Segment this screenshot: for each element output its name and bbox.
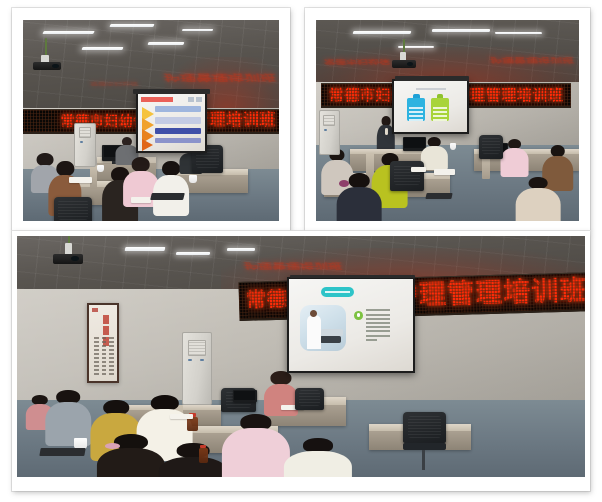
audience-person xyxy=(221,414,289,477)
air-conditioner xyxy=(74,123,96,167)
scroll-paper xyxy=(89,305,117,381)
chair-mesh xyxy=(408,416,440,438)
collage-panel-top-right: 常德市妇幼保 护理管理培训班 常德市妇幼保 护理管理培训班 xyxy=(305,8,590,232)
projector-cable xyxy=(45,38,47,57)
photo-collage: 护理管理培训班 常德市妇幼保 常德市妇幼保 护理管理培训班 xyxy=(0,0,602,502)
ceiling-lamp xyxy=(227,248,256,251)
audience-person xyxy=(45,390,90,443)
ceiling-lamp xyxy=(109,24,154,27)
office-chair xyxy=(479,135,503,159)
ceiling-lamp xyxy=(148,42,185,45)
ac-control-panel xyxy=(324,129,327,131)
scroll-small-characters xyxy=(94,337,114,375)
audience-person xyxy=(516,177,561,221)
slide-title-bar xyxy=(141,97,173,102)
chair-mesh xyxy=(299,390,321,405)
classroom-photo-wide-rear: 护理管理培训班 常德市妇幼保 常德市妇幼保 护理管理培训班 xyxy=(23,20,279,221)
person-torso xyxy=(500,148,529,176)
person-torso xyxy=(159,457,227,477)
hair-bow xyxy=(339,180,349,187)
slide-bar xyxy=(155,106,201,112)
ceiling-lamp xyxy=(181,29,212,31)
audience-person xyxy=(159,443,227,477)
slide-bar xyxy=(155,138,201,143)
audience-person xyxy=(421,137,447,169)
air-conditioner xyxy=(319,110,340,154)
notebook-paper xyxy=(434,169,455,175)
chair-mesh xyxy=(58,200,87,220)
hair-bow xyxy=(105,443,120,449)
chair-stem xyxy=(422,450,425,469)
slide-badge-text xyxy=(325,291,350,293)
person-torso xyxy=(264,384,298,417)
notebook-paper xyxy=(69,177,92,183)
person-torso xyxy=(337,187,382,221)
slide-two-box-comparison xyxy=(394,81,466,131)
ceiling-lamp xyxy=(432,29,490,32)
projector-lens-icon xyxy=(71,256,79,261)
classroom-photo-seated-speaker: 护理管理培训班 常德市妇幼保 护理管理培训班 xyxy=(17,236,585,477)
person-torso xyxy=(516,188,561,221)
monitor-screen xyxy=(234,391,255,400)
scroll-seal-stamp xyxy=(92,308,98,313)
audience-person xyxy=(337,173,382,221)
ac-vent xyxy=(79,127,91,138)
slide-photo-bed xyxy=(321,329,343,336)
presenter-lanyard xyxy=(385,128,388,135)
projector-lens-icon xyxy=(407,62,413,66)
office-chair xyxy=(390,161,424,191)
projector xyxy=(392,60,416,68)
slide-body-text-lines xyxy=(366,309,391,340)
slide-agenda xyxy=(138,94,206,150)
slide-box-green xyxy=(431,98,449,121)
office-chair xyxy=(295,388,323,410)
projection-screen xyxy=(392,79,468,133)
audience-person xyxy=(500,139,529,175)
slide-bullet-person-icon xyxy=(354,311,363,320)
screen-roller xyxy=(395,76,469,81)
slide-button xyxy=(196,97,202,102)
laptop xyxy=(39,448,86,456)
led-banner-text-right: 护理管理培训班 xyxy=(390,277,585,309)
notebook-paper xyxy=(131,197,151,203)
collage-panel-bottom: 护理管理培训班 常德市妇幼保 护理管理培训班 xyxy=(12,231,590,491)
projector xyxy=(33,62,61,70)
ac-control-panel xyxy=(188,359,192,362)
slide-photo-bed-base xyxy=(320,336,341,342)
ceiling-lamp xyxy=(125,247,166,251)
person-torso xyxy=(97,448,165,477)
paper-cup xyxy=(189,175,197,183)
ac-vent xyxy=(323,115,334,126)
ac-control-panel xyxy=(200,359,204,362)
keyboard xyxy=(150,193,185,200)
projector-lens-icon xyxy=(52,64,58,68)
person-torso xyxy=(284,451,352,477)
audience-person xyxy=(284,438,352,477)
projection-screen xyxy=(136,92,208,152)
monitor xyxy=(233,390,257,402)
slide-photo-nurse-bedside xyxy=(300,305,346,351)
slide-badge xyxy=(321,287,354,297)
ac-vent xyxy=(188,340,205,355)
framed-calligraphy-scroll xyxy=(87,303,119,383)
screen-roller xyxy=(290,275,415,279)
notebook-paper xyxy=(170,414,193,418)
slide-title xyxy=(416,88,446,91)
ceiling-lamp xyxy=(81,47,123,50)
slide-box-text-lines xyxy=(433,107,447,121)
classroom-photo-speaker-standing: 常德市妇幼保 护理管理培训班 常德市妇幼保 护理管理培训班 xyxy=(316,20,579,221)
slide-button xyxy=(188,97,194,102)
notebook-paper xyxy=(411,167,427,172)
projection-screen xyxy=(287,277,415,373)
keyboard xyxy=(426,193,454,199)
ac-control-panel xyxy=(80,141,83,143)
slide-image-with-bullets xyxy=(289,279,413,371)
paper-cup xyxy=(97,165,104,172)
air-conditioner xyxy=(182,332,213,404)
screen-roller xyxy=(133,89,210,94)
iced-tea-bottle xyxy=(187,417,197,431)
ceiling-lamp xyxy=(352,31,411,34)
office-chair xyxy=(54,197,92,221)
projector xyxy=(53,254,84,264)
iced-tea-bottle xyxy=(199,448,208,462)
collage-panel-top-left: 护理管理培训班 常德市妇幼保 常德市妇幼保 护理管理培训班 xyxy=(12,8,290,232)
chair-mesh xyxy=(482,137,500,154)
slide-bar xyxy=(155,128,201,134)
slide-box-text-lines xyxy=(409,107,423,121)
ceiling: 常德市妇幼保 护理管理培训班 xyxy=(316,20,579,82)
led-banner-text-right: 护理管理培训班 xyxy=(454,88,563,103)
slide-bar xyxy=(155,117,201,123)
slide-photo-nurse-body xyxy=(307,315,321,349)
person-torso xyxy=(221,428,289,477)
office-chair xyxy=(403,412,446,443)
slide-box-blue xyxy=(407,98,425,121)
audience-person xyxy=(97,434,165,477)
slide-arrow-icon xyxy=(142,139,153,150)
bottle-cap xyxy=(200,445,206,449)
chair-seat xyxy=(403,443,446,450)
